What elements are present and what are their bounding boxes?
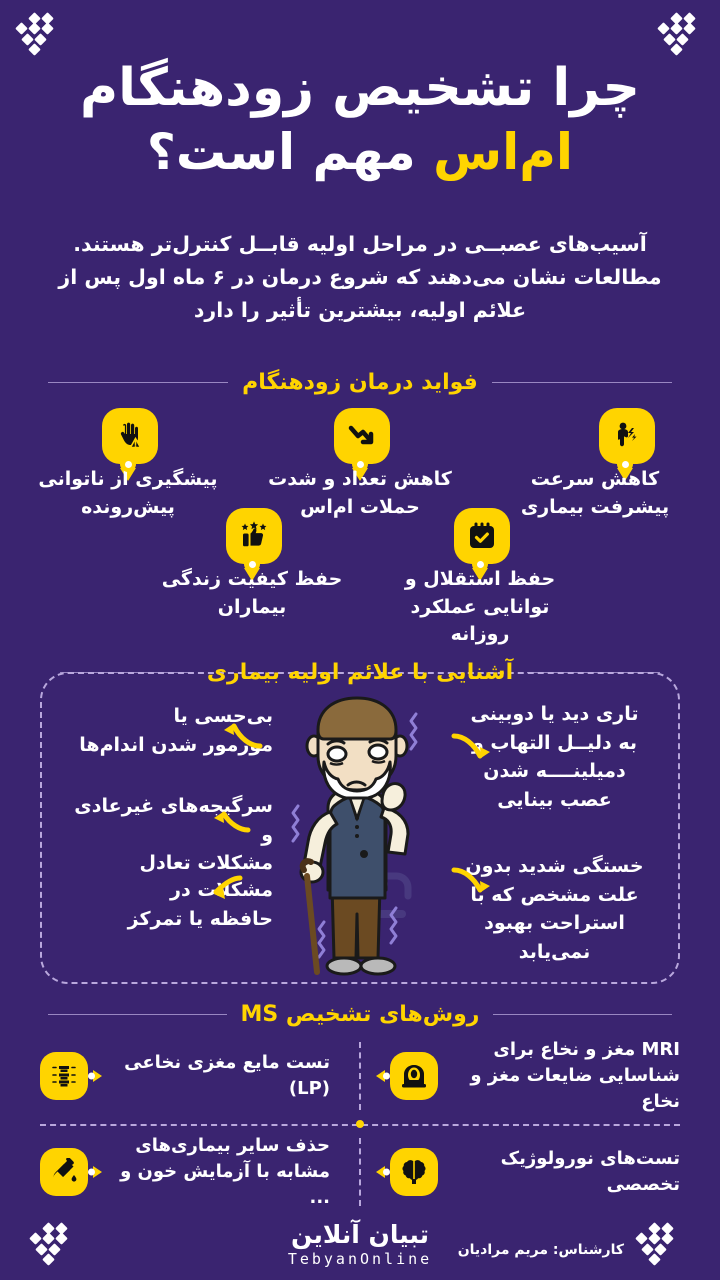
corner-dots-top-right (658, 14, 704, 54)
brand-logo: تبیان آنلاین TebyanOnline (288, 1222, 432, 1268)
heading-rule-right (48, 382, 228, 383)
title-line-2: ام‌اس مهم است؟ (0, 121, 720, 184)
spine-icon (40, 1052, 88, 1100)
heading-rule-left (493, 1014, 672, 1015)
brain-icon (390, 1148, 438, 1196)
pin-stem (617, 456, 633, 472)
methods-section-heading: روش‌های تشخیص MS (48, 1002, 672, 1027)
method-item-mri: MRI مغز و نخاع برای شناسایی ضایعات مغز و… (390, 1038, 680, 1114)
heading-rule-left (492, 382, 672, 383)
arrow-to-numbness-symptom (218, 712, 266, 756)
page-title: چرا تشخیص زودهنگام ام‌اس مهم است؟ (0, 56, 720, 184)
arrow-to-memory-symptom (190, 868, 246, 912)
method-item-lumbar-puncture: تست مایع مغزی نخاعی (LP) (40, 1038, 330, 1114)
elderly-man-illustration (266, 690, 448, 990)
title-line-1: چرا تشخیص زودهنگام (0, 56, 720, 121)
method-text-3: حذف سایر بیماری‌های مشابه با آزمایش خون … (97, 1133, 330, 1211)
arrow-to-fatigue-symptom (448, 862, 492, 906)
methods-heading-text: روش‌های تشخیص MS (241, 1002, 480, 1027)
symptoms-heading-text: آشنایی با علائم اولیه بیماری (207, 660, 513, 685)
symptoms-section-heading: آشنایی با علائم اولیه بیماری (60, 660, 660, 685)
benefits-heading-text: فواید درمان زودهنگام (242, 370, 478, 395)
brand-name-fa: تبیان آنلاین (288, 1222, 432, 1248)
method-item-blood-test: حذف سایر بیماری‌های مشابه با آزمایش خون … (40, 1134, 330, 1210)
mri-machine-icon (390, 1052, 438, 1100)
pin-stem (120, 456, 136, 472)
title-line-2-rest: مهم است؟ (147, 123, 416, 181)
corner-dots-top-left (16, 14, 62, 54)
subtitle: آسیب‌های عصبــی در مراحل اولیه قابــل کن… (40, 228, 680, 328)
benefit-label-0: کاهش سرعتپیشرفت بیماری (500, 466, 690, 521)
arrow-to-vision-symptom (448, 728, 492, 772)
benefit-label-2: پیشگیری از ناتوانیپیش‌رونده (33, 466, 223, 521)
benefits-section-heading: فواید درمان زودهنگام (48, 370, 672, 395)
pin-stem (352, 456, 368, 472)
methods-center-dot (356, 1120, 364, 1128)
method-text-0: MRI مغز و نخاع برای شناسایی ضایعات مغز و… (447, 1037, 680, 1115)
pin-stem (244, 556, 260, 572)
benefit-label-1: کاهش تعداد و شدتحملات ام‌اس (265, 466, 455, 521)
methods-divider-vertical-bottom (359, 1138, 361, 1206)
test-tube-icon (40, 1148, 88, 1196)
expert-credit: کارشناس: مریم مرادیان (458, 1242, 624, 1258)
title-highlight-ms: ام‌اس (433, 123, 573, 181)
arrow-to-dizziness-symptom (206, 800, 254, 844)
method-item-neuro-tests: تست‌های نورولوژیک تخصصی (390, 1134, 680, 1210)
benefit-label-3: حفظ استقلال وتوانایی عملکرد روزانه (385, 566, 575, 649)
brand-name-en: TebyanOnline (288, 1250, 432, 1268)
pin-stem (472, 556, 488, 572)
heading-rule-right (48, 1014, 227, 1015)
methods-divider-vertical-top (359, 1042, 361, 1110)
method-text-1: تست مایع مغزی نخاعی (LP) (97, 1050, 330, 1102)
heading-rule-left (527, 672, 660, 673)
method-text-2: تست‌های نورولوژیک تخصصی (447, 1146, 680, 1198)
footer: تبیان آنلاین TebyanOnline کارشناس: مریم … (0, 1218, 720, 1280)
benefit-label-4: حفظ کیفیت زندگیبیماران (157, 566, 347, 621)
heading-rule-right (60, 672, 193, 673)
methods-grid: MRI مغز و نخاع برای شناسایی ضایعات مغز و… (40, 1038, 680, 1218)
